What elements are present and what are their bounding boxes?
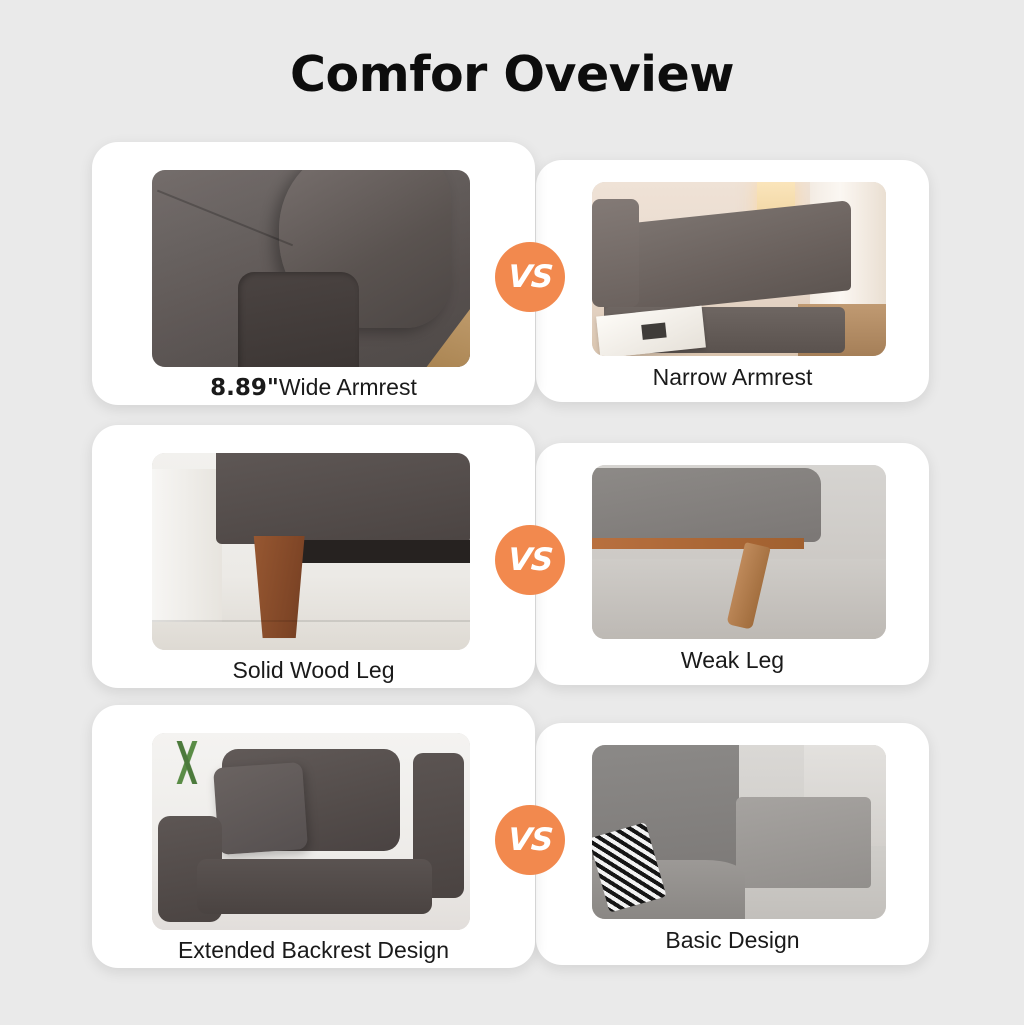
caption-good-armrest: 8.89"Wide Armrest	[92, 374, 535, 401]
extended-backrest-photo	[152, 733, 470, 930]
caption-bad-armrest: Narrow Armrest	[536, 364, 929, 391]
comparison-row-armrest: 8.89"Wide Armrest Narrow Armrest VS	[0, 142, 1024, 410]
caption-good-leg: Solid Wood Leg	[92, 657, 535, 684]
backrest-label: Extended Backrest Design	[178, 937, 449, 963]
caption-bad-leg: Weak Leg	[536, 647, 929, 674]
comparison-card-bad-armrest[interactable]: Narrow Armrest	[536, 160, 929, 402]
comparison-card-bad-backrest[interactable]: Basic Design	[536, 723, 929, 965]
weak-leg-photo	[592, 465, 886, 639]
comparison-card-good-leg[interactable]: Solid Wood Leg	[92, 425, 535, 688]
leg-label: Solid Wood Leg	[233, 657, 395, 683]
comparison-card-good-armrest[interactable]: 8.89"Wide Armrest	[92, 142, 535, 405]
caption-bad-backrest: Basic Design	[536, 927, 929, 954]
basic-design-photo	[592, 745, 886, 919]
comparison-row-leg: Solid Wood Leg Weak Leg VS	[0, 425, 1024, 693]
comparison-grid: 8.89"Wide Armrest Narrow Armrest VS	[0, 0, 1024, 1025]
vs-label: VS	[507, 262, 553, 293]
vs-badge-armrest: VS	[495, 242, 565, 312]
armrest-measurement: 8.89"	[210, 375, 279, 401]
vs-badge-leg: VS	[495, 525, 565, 595]
narrow-armrest-photo	[592, 182, 886, 356]
vs-badge-backrest: VS	[495, 805, 565, 875]
armrest-label: Wide Armrest	[279, 374, 417, 400]
comparison-card-good-backrest[interactable]: Extended Backrest Design	[92, 705, 535, 968]
solid-wood-leg-photo	[152, 453, 470, 650]
vs-label: VS	[507, 545, 553, 576]
comparison-card-bad-leg[interactable]: Weak Leg	[536, 443, 929, 685]
vs-label: VS	[507, 825, 553, 856]
comparison-row-backrest: Extended Backrest Design Basic Design VS	[0, 705, 1024, 973]
wide-armrest-photo	[152, 170, 470, 367]
caption-good-backrest: Extended Backrest Design	[92, 937, 535, 964]
